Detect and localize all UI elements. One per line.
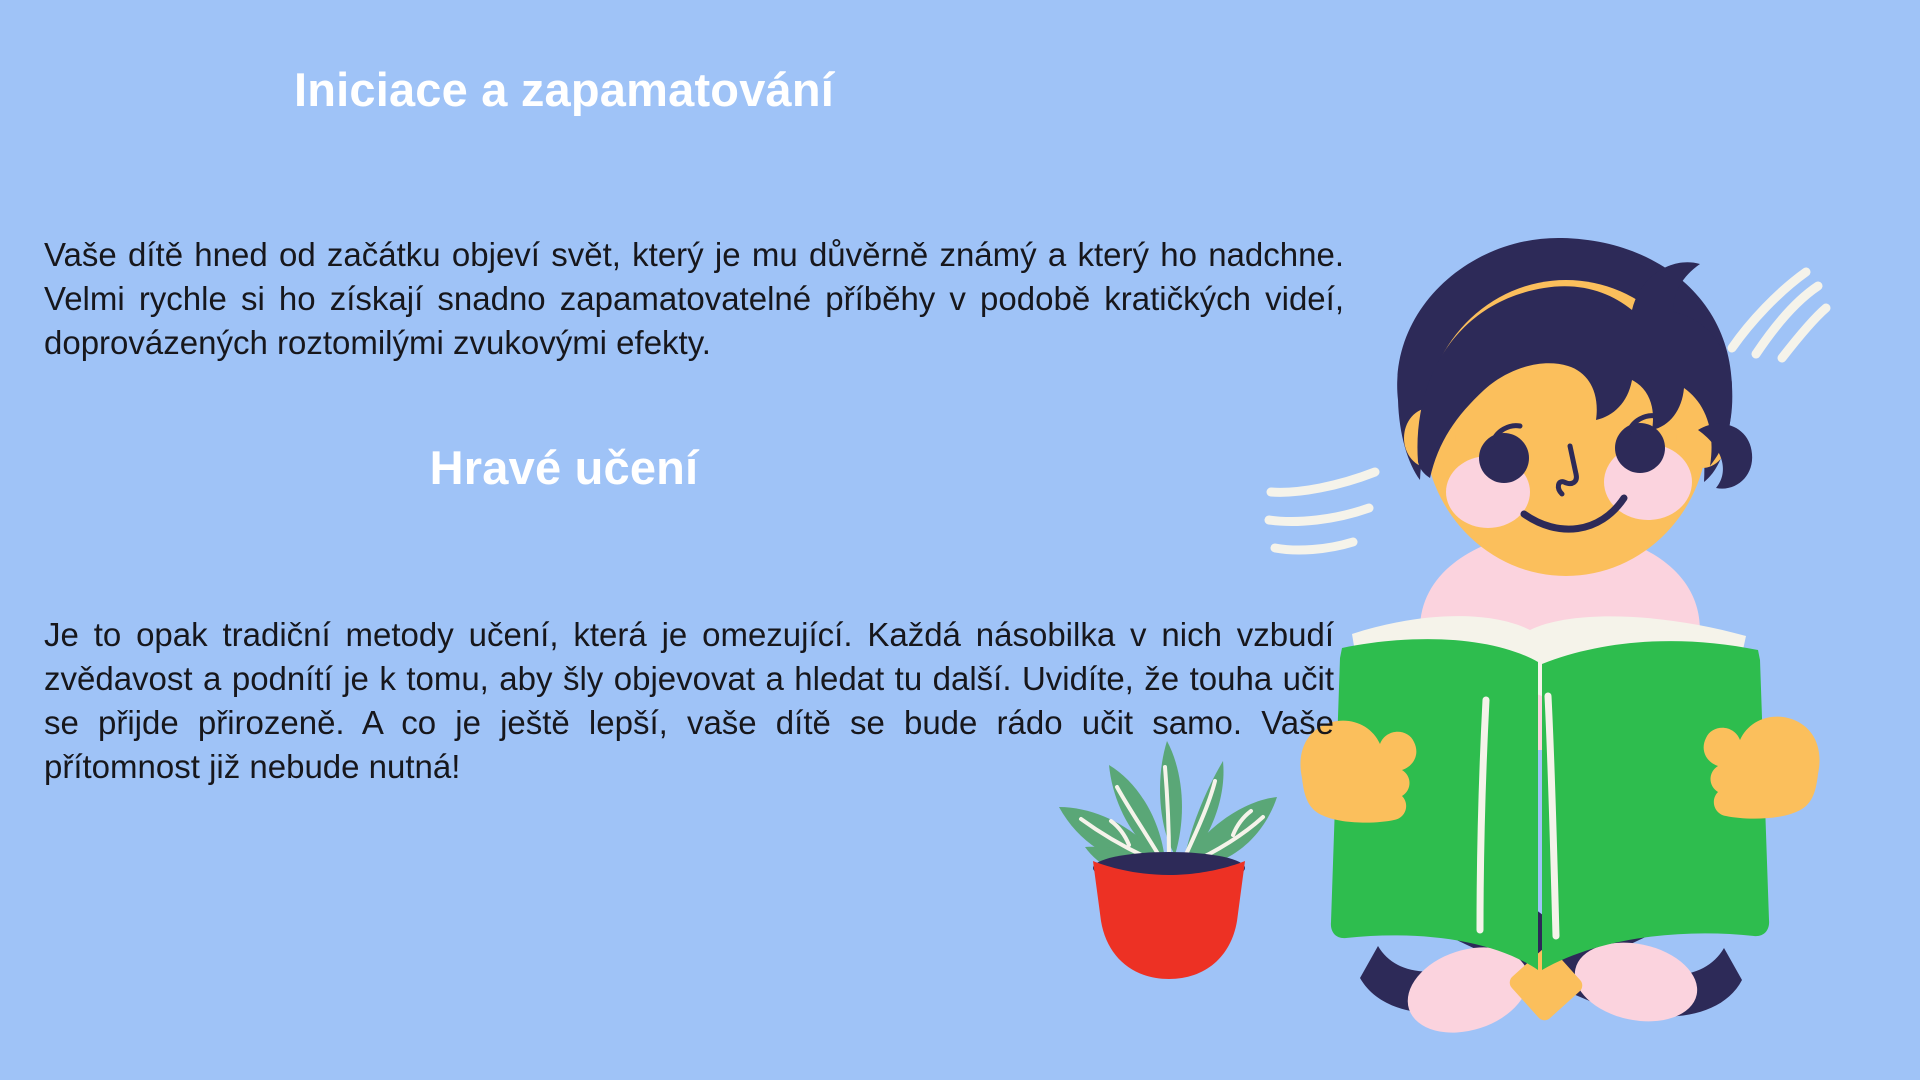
boy-reading-illustration — [1280, 230, 1840, 1020]
paragraph-playful-learning: Je to opak tradiční metody učení, která … — [44, 613, 1334, 789]
plant-pot — [1093, 861, 1245, 979]
page-title-playful-learning: Hravé učení — [44, 440, 1084, 495]
slide-canvas: Iniciace a zapamatování Vaše dítě hned o… — [0, 0, 1920, 1080]
page-title-initiation: Iniciace a zapamatování — [44, 62, 1084, 117]
paragraph-initiation: Vaše dítě hned od začátku objeví svět, k… — [44, 233, 1344, 365]
